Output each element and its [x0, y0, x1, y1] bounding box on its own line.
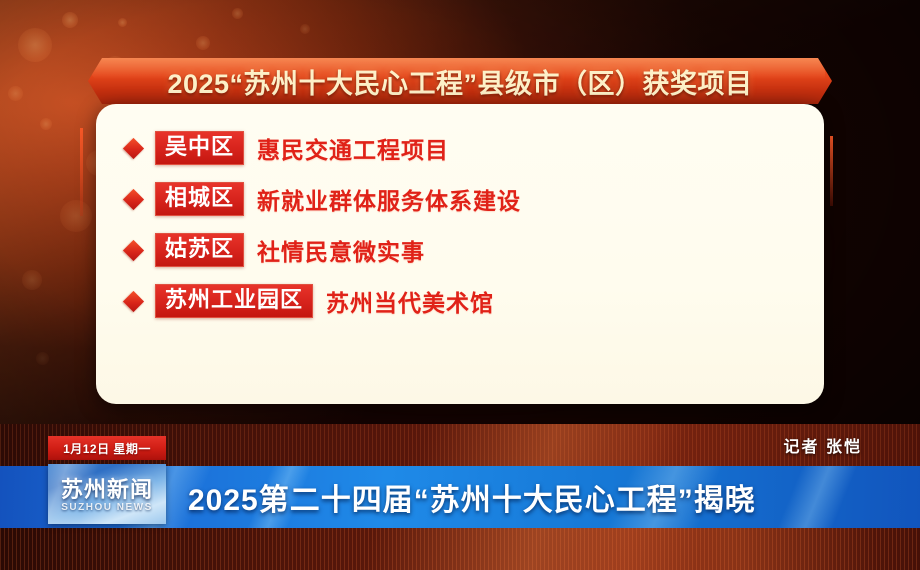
district-badge: 姑苏区: [155, 233, 244, 267]
diamond-bullet-icon: [123, 137, 144, 158]
award-row: 苏州工业园区苏州当代美术馆: [126, 283, 804, 319]
project-name: 苏州当代美术馆: [326, 284, 494, 318]
diamond-bullet-icon: [123, 188, 144, 209]
accent-tick-left: [80, 128, 83, 216]
panel-surface: 吴中区惠民交通工程项目相城区新就业群体服务体系建设姑苏区社情民意微实事苏州工业园…: [96, 104, 824, 404]
accent-tick-right: [830, 136, 833, 206]
channel-logo: 苏州新闻 SUZHOU NEWS: [48, 464, 166, 524]
district-badge: 吴中区: [155, 131, 244, 165]
bottom-strip-sweep: [0, 528, 920, 570]
project-name: 社情民意微实事: [257, 233, 425, 267]
diamond-bullet-icon: [123, 239, 144, 260]
award-row: 相城区新就业群体服务体系建设: [126, 181, 804, 217]
date-text: 1月12日 星期一: [63, 440, 151, 457]
date-badge: 1月12日 星期一: [48, 436, 166, 460]
district-badge: 苏州工业园区: [155, 284, 313, 318]
headline-text: 2025第二十四届“苏州十大民心工程”揭晓: [188, 466, 756, 528]
project-name: 惠民交通工程项目: [257, 131, 449, 165]
reporter-credit: 记者 张恺: [784, 433, 862, 457]
broadcast-screen: 2025“苏州十大民心工程”县级市（区）获奖项目 吴中区惠民交通工程项目相城区新…: [0, 0, 920, 570]
bottom-strip: [0, 528, 920, 570]
award-row: 姑苏区社情民意微实事: [126, 232, 804, 268]
district-badge: 相城区: [155, 182, 244, 216]
award-row: 吴中区惠民交通工程项目: [126, 130, 804, 166]
channel-logo-english: SUZHOU NEWS: [48, 502, 166, 513]
award-panel: 吴中区惠民交通工程项目相城区新就业群体服务体系建设姑苏区社情民意微实事苏州工业园…: [96, 104, 824, 404]
award-list: 吴中区惠民交通工程项目相城区新就业群体服务体系建设姑苏区社情民意微实事苏州工业园…: [126, 130, 804, 319]
project-name: 新就业群体服务体系建设: [257, 182, 521, 216]
channel-logo-chinese: 苏州新闻: [48, 472, 166, 504]
diamond-bullet-icon: [123, 290, 144, 311]
headline-streak-4: [770, 466, 865, 528]
title-banner-text: 2025“苏州十大民心工程”县级市（区）获奖项目: [167, 62, 752, 101]
